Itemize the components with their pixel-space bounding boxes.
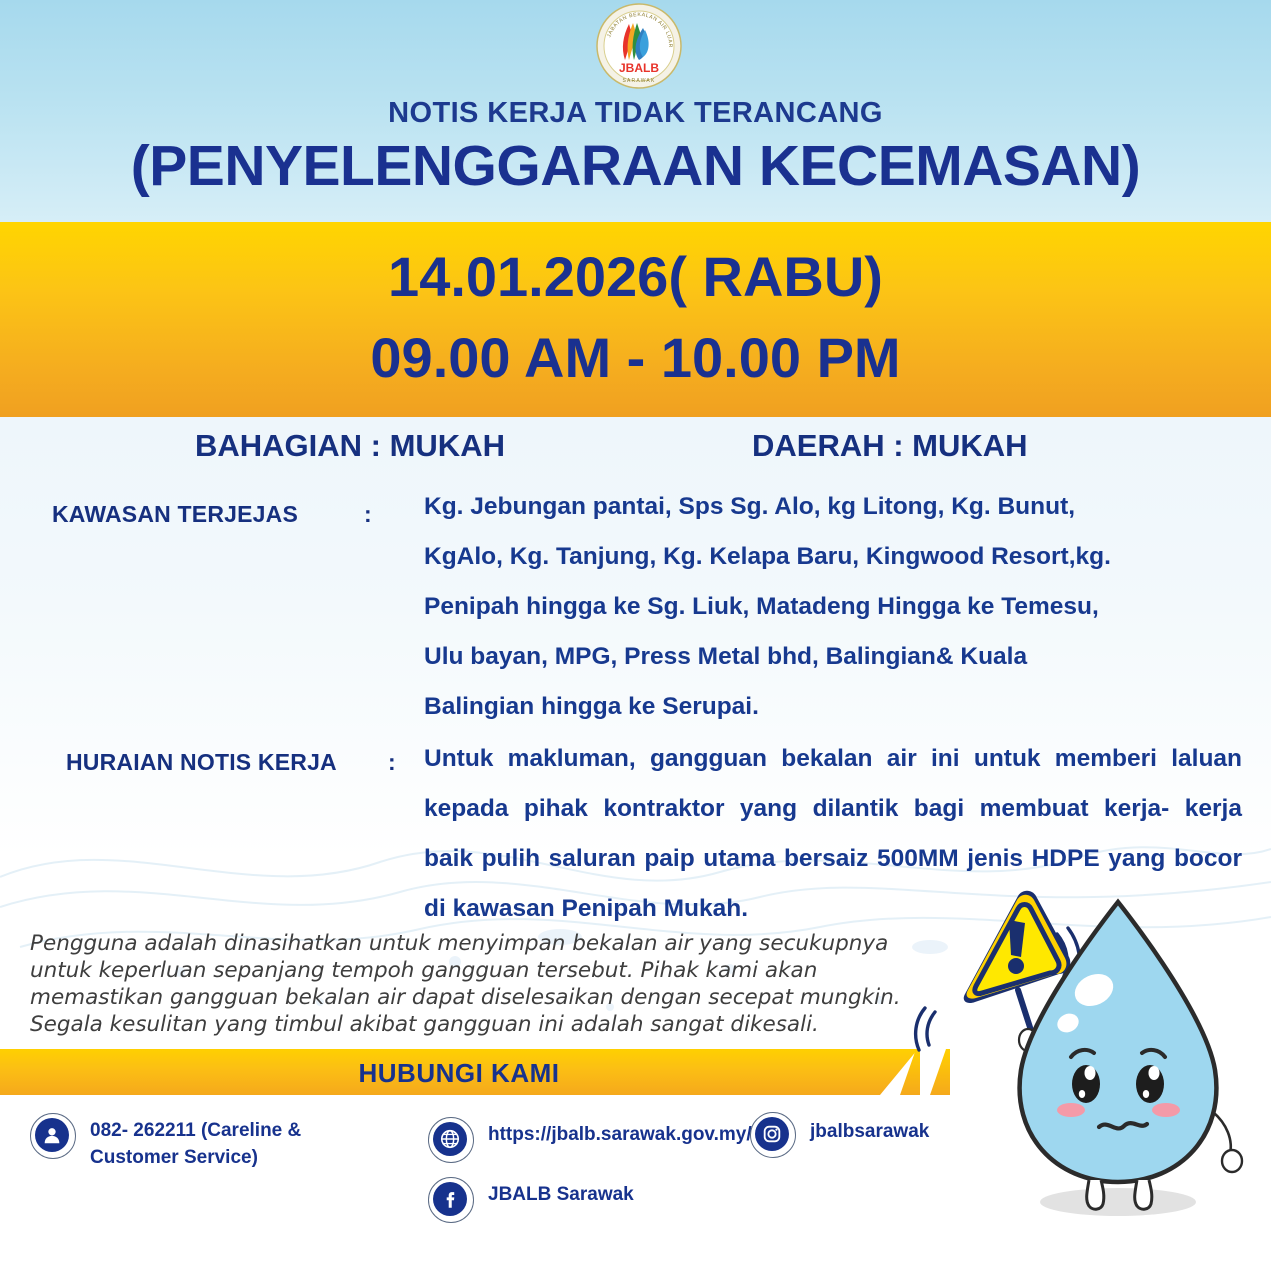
person-icon: [30, 1113, 76, 1159]
affected-areas-value: Kg. Jebungan pantai, Sps Sg. Alo, kg Lit…: [424, 482, 1084, 732]
affected-areas-colon: :: [364, 501, 372, 528]
globe-icon: [428, 1117, 474, 1163]
poster-header: JBALB JABATAN BEKALAN AIR LUAR BANDAR SA…: [0, 0, 1271, 222]
affected-areas-line: Ulu bayan, MPG, Press Metal bhd, Balingi…: [424, 632, 1084, 682]
contact-item-label: https://jbalb.sarawak.gov.my/: [488, 1121, 752, 1148]
district-label: DAERAH : MUKAH: [752, 428, 1028, 464]
affected-areas-line: Balingian hingga ke Serupai.: [424, 682, 1084, 732]
water-disruption-notice-poster: JBALB JABATAN BEKALAN AIR LUAR BANDAR SA…: [0, 0, 1271, 1272]
warning-triangle-icon: [964, 891, 1071, 1003]
affected-areas-line: Penipah hingga ke Sg. Liuk, Matadeng Hin…: [424, 582, 1084, 632]
contact-band-title: HUBUNGI KAMI: [0, 1058, 918, 1089]
work-description-line: kepada pihak kontraktor yang dilantik ba…: [424, 784, 1242, 834]
svg-text:SARAWAK: SARAWAK: [622, 78, 655, 84]
instagram-icon: [750, 1112, 796, 1158]
notice-kicker: NOTIS KERJA TIDAK TERANCANG: [0, 97, 1271, 130]
contact-item-label: 082- 262211 (Careline & Customer Service…: [90, 1117, 390, 1171]
affected-areas-label: KAWASAN TERJEJAS: [52, 501, 298, 528]
schedule-date: 14.01.2026( RABU): [0, 244, 1271, 309]
page-title: (PENYELENGGARAAN KECEMASAN): [0, 133, 1271, 199]
affected-areas-line: Kg. Jebungan pantai, Sps Sg. Alo, kg Lit…: [424, 482, 1084, 532]
logo-wordmark: JBALB: [619, 61, 659, 75]
division-label: BAHAGIAN : MUKAH: [195, 428, 505, 464]
work-description-line: Untuk makluman, gangguan bekalan air ini…: [424, 734, 1242, 784]
advisory-paragraph: Pengguna adalah dinasihatkan untuk menyi…: [30, 930, 910, 1038]
jbalb-water-droplet-logo-icon: JBALB JABATAN BEKALAN AIR LUAR BANDAR SA…: [595, 2, 683, 90]
work-description-colon: :: [388, 749, 396, 776]
work-description-label: HURAIAN NOTIS KERJA: [66, 749, 337, 776]
water-droplet-mascot: [905, 862, 1271, 1272]
contact-item-label: JBALB Sarawak: [488, 1181, 634, 1208]
affected-areas-line: KgAlo, Kg. Tanjung, Kg. Kelapa Baru, Kin…: [424, 532, 1084, 582]
schedule-time: 09.00 AM - 10.00 PM: [0, 325, 1271, 390]
facebook-icon: [428, 1177, 474, 1223]
